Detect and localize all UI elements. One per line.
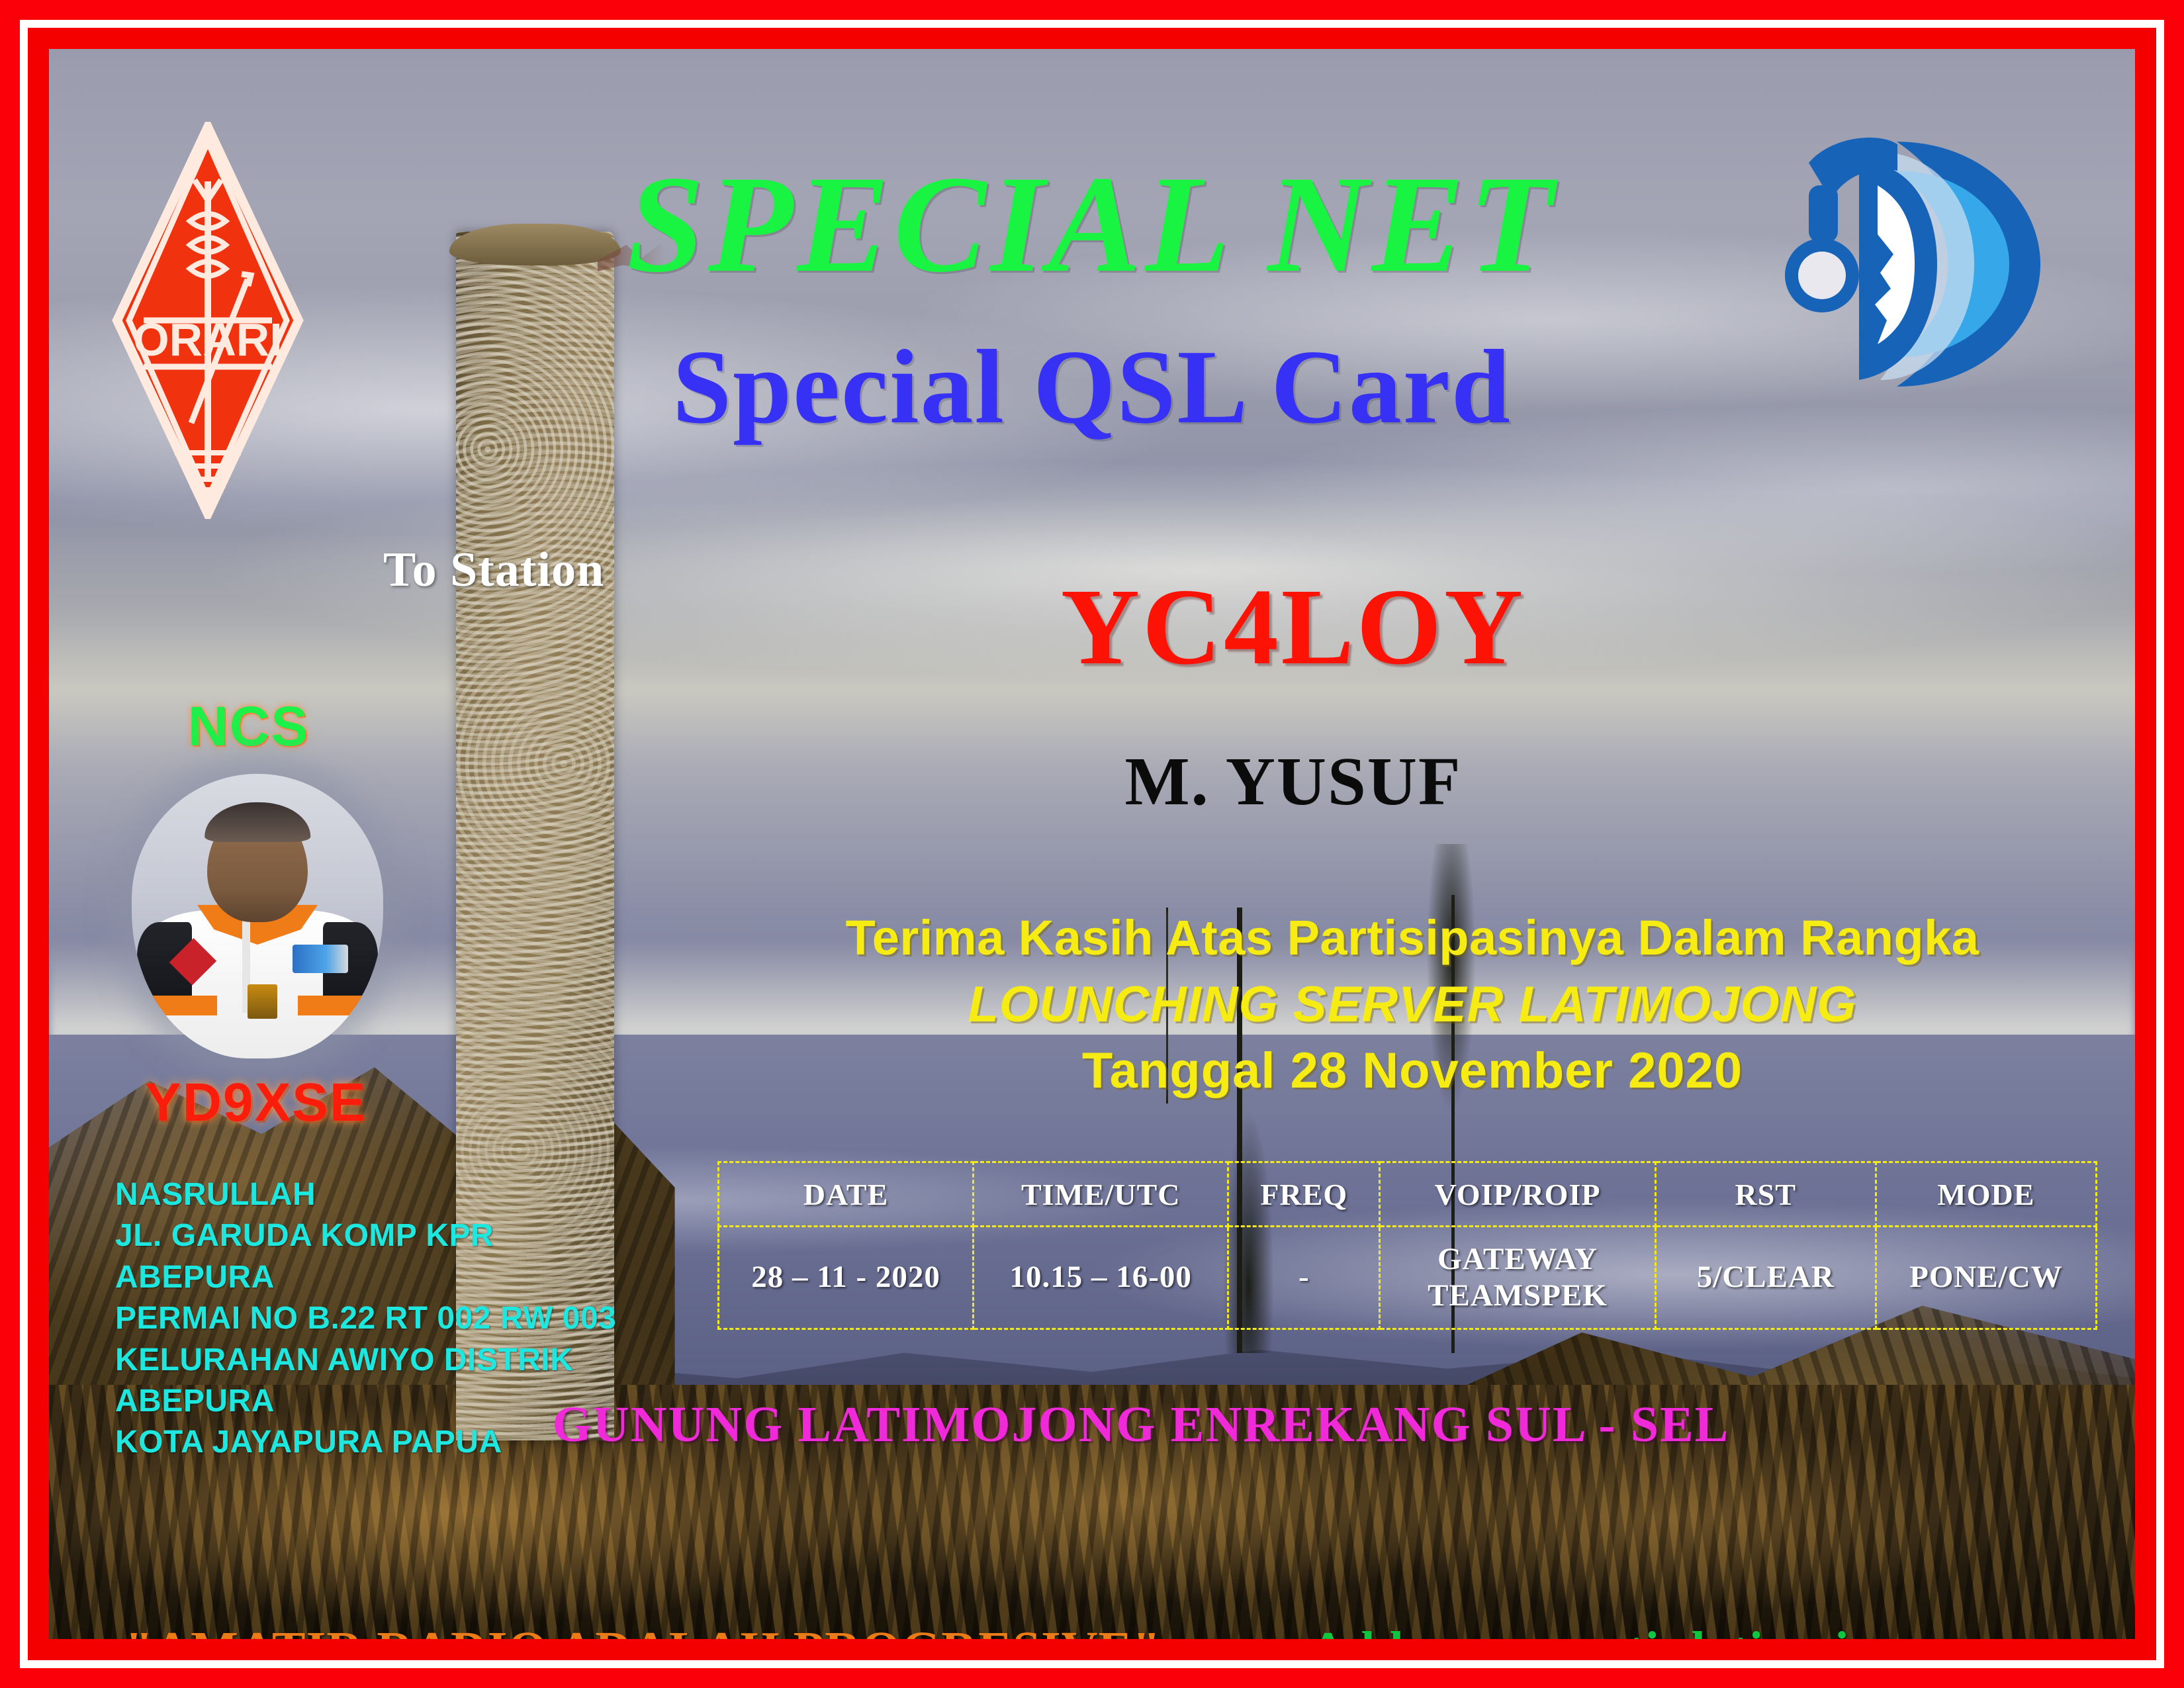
column-header-rst: RST [1655,1162,1876,1227]
event-date-line: Tanggal 28 November 2020 [764,1042,2061,1100]
cell-mode: PONE/CW [1876,1227,2096,1329]
address-line: KELURAHAN AWIYO DISTRIK [115,1340,616,1381]
operator-photo [132,774,383,1058]
cell-voip: GATEWAY TEAMSPEK [1380,1227,1655,1329]
column-header-time: TIME/UTC [974,1162,1228,1227]
card-inner-red-frame: ORARI [28,28,2156,1660]
column-header-mode: MODE [1876,1162,2096,1227]
address-line: PERMAI NO B.22 RT 002 RW 003 [115,1298,616,1339]
overlay-layer: ORARI [49,49,2135,1639]
event-thanks-line: Terima Kasih Atas Partisipasinya Dalam R… [764,910,2061,966]
cell-rst: 5/CLEAR [1655,1227,1876,1329]
table-row: 28 – 11 - 2020 10.15 – 16-00 - GATEWAY T… [719,1227,2097,1329]
card-photo-background: ORARI [49,49,2135,1639]
cell-freq: - [1228,1227,1380,1329]
operator-belt-right [298,996,373,1015]
qsl-card: ORARI [0,0,2184,1688]
qso-log-table: DATE TIME/UTC FREQ VOIP/ROIP RST MODE 28… [717,1161,2097,1330]
address-line: NASRULLAH [115,1174,616,1215]
website-address: Address : amatir.latimojong.com [1310,1621,2034,1639]
ncs-label: NCS [188,694,309,759]
callsign: YC4LOY [797,572,1790,681]
page-subtitle: Special QSL Card [49,334,2135,440]
page-title: SPECIAL NET [49,155,2135,294]
card-white-gap: ORARI [20,20,2164,1668]
operator-hair [205,802,310,842]
address-line: JL. GARUDA KOMP KPR [115,1215,616,1256]
address-line: ABEPURA [115,1257,616,1298]
cell-time: 10.15 – 16-00 [974,1227,1228,1329]
cell-date: 28 – 11 - 2020 [719,1227,974,1329]
operator-name: M. YUSUF [797,747,1790,816]
operator-belt-left [142,996,217,1015]
event-title-line: LOUNCHING SERVER LATIMOJONG [764,976,2061,1033]
column-header-date: DATE [719,1162,974,1227]
location-line: GUNUNG LATIMOJONG ENREKANG SUL - SEL [446,1396,1836,1454]
column-header-voip: VOIP/ROIP [1380,1162,1655,1227]
ncs-callsign: YD9XSE [145,1072,367,1134]
motto-text: "AMATIR RADIO ADALAH PROGRESIVE" [125,1621,1161,1639]
operator-id-tag [248,984,278,1019]
to-station-label: To Station [383,542,604,598]
table-header-row: DATE TIME/UTC FREQ VOIP/ROIP RST MODE [719,1162,2097,1227]
column-header-freq: FREQ [1228,1162,1380,1227]
operator-badge-right [293,945,348,973]
